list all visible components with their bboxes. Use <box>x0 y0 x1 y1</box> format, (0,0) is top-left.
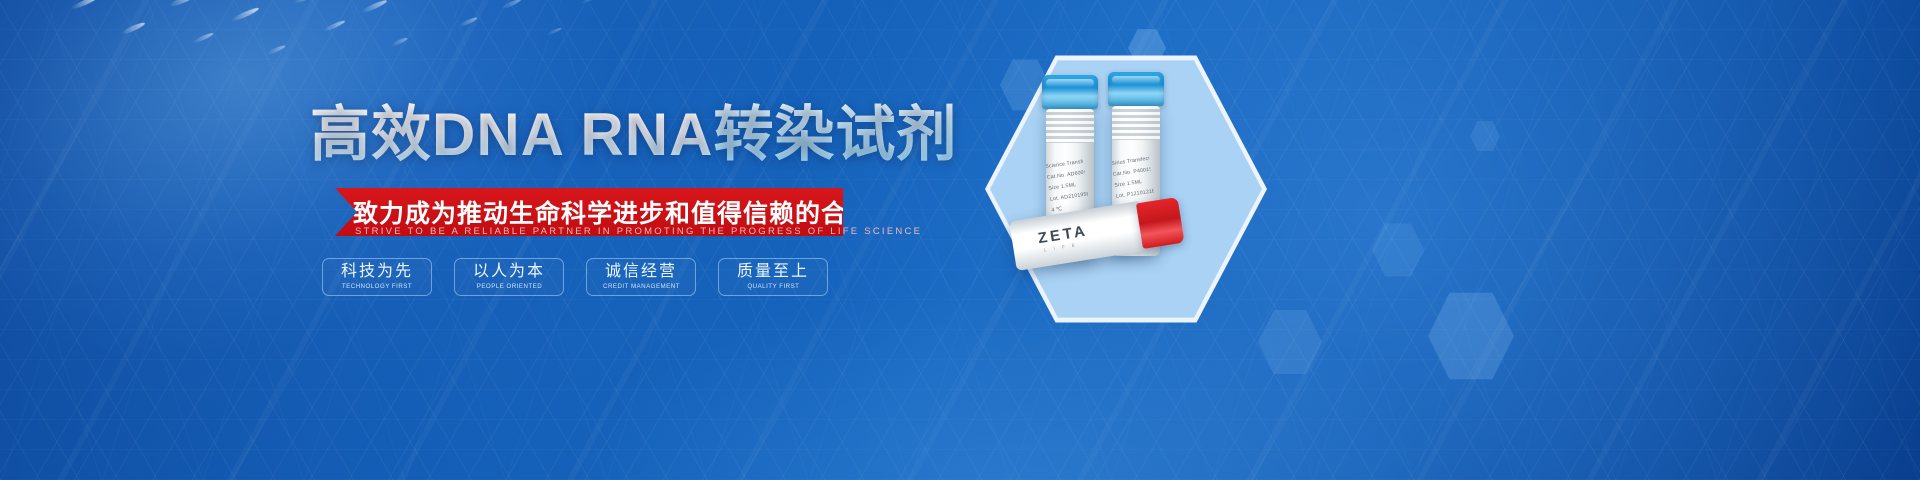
vial-label-line: Size 1.5ML <box>1114 178 1152 189</box>
feature-pill-label-cn: 诚信经营 <box>605 264 677 281</box>
vial-label-line: Sirius Transfection <box>1112 156 1150 167</box>
vial-cap-red <box>1136 197 1185 249</box>
page-title: 高效DNA RNA转染试剂 <box>310 100 957 169</box>
tagline-text-cn: 致力成为推动生命科学进步和值得信赖的合作者 <box>353 194 899 230</box>
vial-label-line: Lot. AD210195B <box>1050 191 1088 202</box>
vial-cap-blue <box>1108 72 1164 106</box>
feature-pill-technology-first[interactable]: 科技为先 TECHNOLOGY FIRST <box>322 258 432 296</box>
text-content: 高效DNA RNA转染试剂 致力成为推动生命科学进步和值得信赖的合作者 STRI… <box>0 0 1000 480</box>
vial-label-line: Cat.No. P4001SB <box>1113 167 1151 178</box>
product-image: Science Transfection Cat.No. AD6005 Size… <box>960 0 1920 480</box>
feature-pill-label-cn: 以人为本 <box>473 264 545 281</box>
title-segment-primary: 高效DNA RNA <box>310 101 713 168</box>
feature-pill-label-en: TECHNOLOGY FIRST <box>342 284 412 291</box>
vial-label-line: Lot. P1210121E2 <box>1116 188 1154 199</box>
promo-banner: 高效DNA RNA转染试剂 致力成为推动生命科学进步和值得信赖的合作者 STRI… <box>0 0 1920 480</box>
tagline-text-en: STRIVE TO BE A RELIABLE PARTNER IN PROMO… <box>355 226 922 237</box>
vial-label-line: Science Transfection <box>1046 159 1084 170</box>
vial-threading <box>1046 109 1094 143</box>
feature-pill-quality-first[interactable]: 质量至上 QUALITY FIRST <box>718 258 828 296</box>
feature-pill-label-cn: 科技为先 <box>341 264 413 281</box>
title-segment-accent: 转染试剂 <box>713 101 957 168</box>
feature-pill-label-en: CREDIT MANAGEMENT <box>603 284 680 291</box>
feature-pill-credit-management[interactable]: 诚信经营 CREDIT MANAGEMENT <box>586 258 696 296</box>
feature-pill-people-oriented[interactable]: 以人为本 PEOPLE ORIENTED <box>454 258 564 296</box>
vial-label-line: Size 1.5ML <box>1048 181 1086 192</box>
feature-pill-label-en: QUALITY FIRST <box>747 284 799 291</box>
feature-pill-label-cn: 质量至上 <box>737 264 809 281</box>
vial-label-line: Cat.No. AD6005 <box>1047 170 1085 181</box>
feature-pill-list: 科技为先 TECHNOLOGY FIRST 以人为本 PEOPLE ORIENT… <box>322 258 828 296</box>
vial-threading <box>1112 106 1160 140</box>
feature-pill-label-en: PEOPLE ORIENTED <box>476 284 541 291</box>
vial-cap-blue <box>1042 75 1098 109</box>
